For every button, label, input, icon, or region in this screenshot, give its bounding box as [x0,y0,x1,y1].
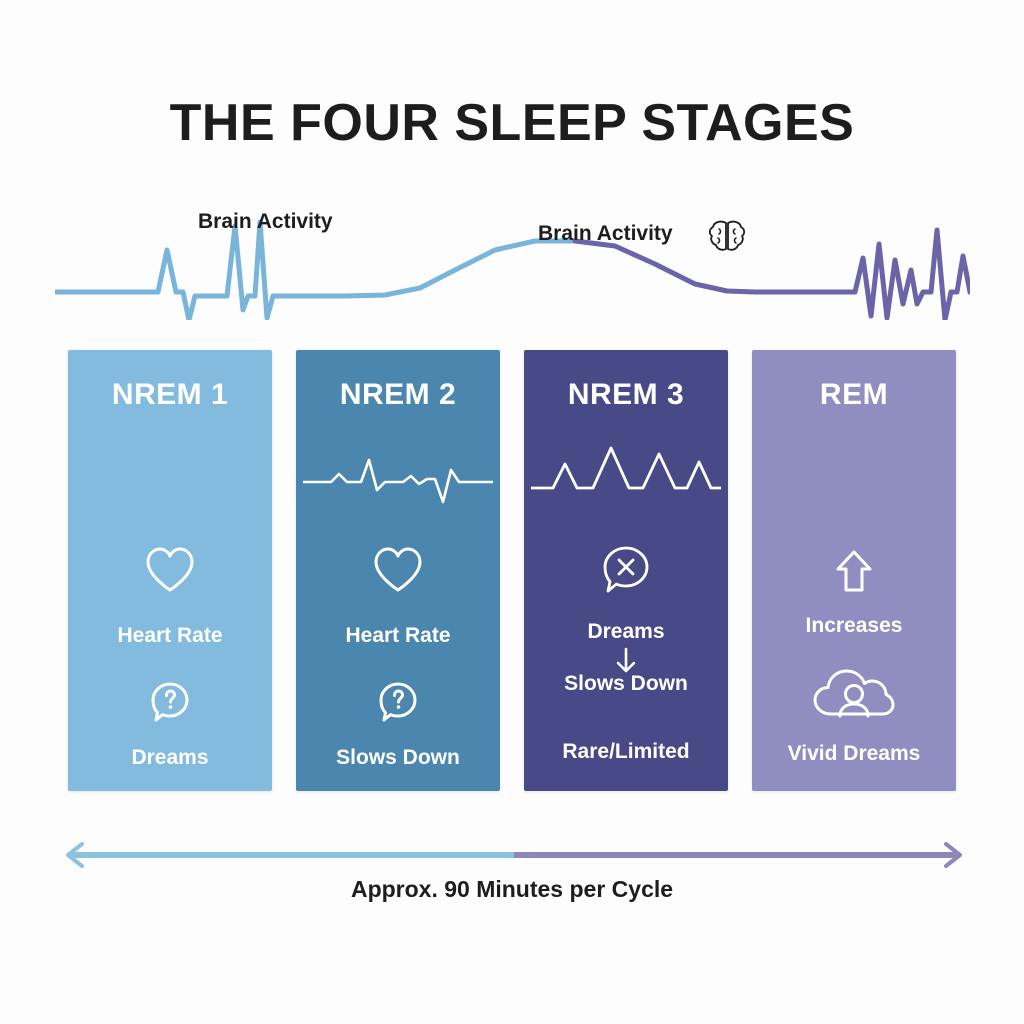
cloud-person-icon [811,666,897,724]
stage-card-nrem-1[interactable]: NREM 1 Heart Rate Dreams [68,350,272,791]
cycle-timeline [60,838,968,872]
speech-bubble-question-icon [376,680,420,724]
stage-row-label-vivid-dreams: Vivid Dreams [788,742,921,766]
speech-bubble-question-icon [148,680,192,724]
sleep-stages-infographic: THE FOUR SLEEP STAGES Brain Activity Bra… [0,0,1024,1024]
brain-icon [707,218,747,254]
heart-icon [142,542,198,598]
brain-activity-wave [55,200,970,320]
eeg-delta-wave-icon [531,442,721,502]
stage-row-label-dreams: Dreams [131,746,208,770]
timeline-caption: Approx. 90 Minutes per Cycle [0,876,1024,903]
page-title: THE FOUR SLEEP STAGES [0,93,1024,153]
stage-title-nrem-1: NREM 1 [68,378,272,412]
brain-activity-label-right: Brain Activity [538,222,673,246]
stage-row-label-heart-rate: Heart Rate [117,624,222,648]
awake-eeg-path [55,222,575,320]
stage-card-rem[interactable]: REM Increases Vivid Dreams [752,350,956,791]
stage-card-nrem-2[interactable]: NREM 2 Heart Rate [296,350,500,791]
stage-row-label-slows-down: Slows Down [564,672,688,696]
speech-bubble-x-icon [598,542,654,598]
stage-title-nrem-3: NREM 3 [524,378,728,412]
heart-icon [370,542,426,598]
eeg-light-wave-icon [303,450,493,510]
stage-columns: NREM 1 Heart Rate Dreams [68,350,956,791]
stage-row-label-increases: Increases [806,614,903,638]
stage-row-label-dreams: Dreams [587,620,664,644]
stage-row-label-slows-down: Slows Down [336,746,460,770]
stage-title-rem: REM [752,378,956,412]
brain-activity-label-left: Brain Activity [198,210,333,234]
arrow-up-icon [832,548,876,594]
stage-row-label-rare-limited: Rare/Limited [562,740,689,764]
stage-row-label-heart-rate: Heart Rate [345,624,450,648]
stage-card-nrem-3[interactable]: NREM 3 Dreams S [524,350,728,791]
stage-title-nrem-2: NREM 2 [296,378,500,412]
